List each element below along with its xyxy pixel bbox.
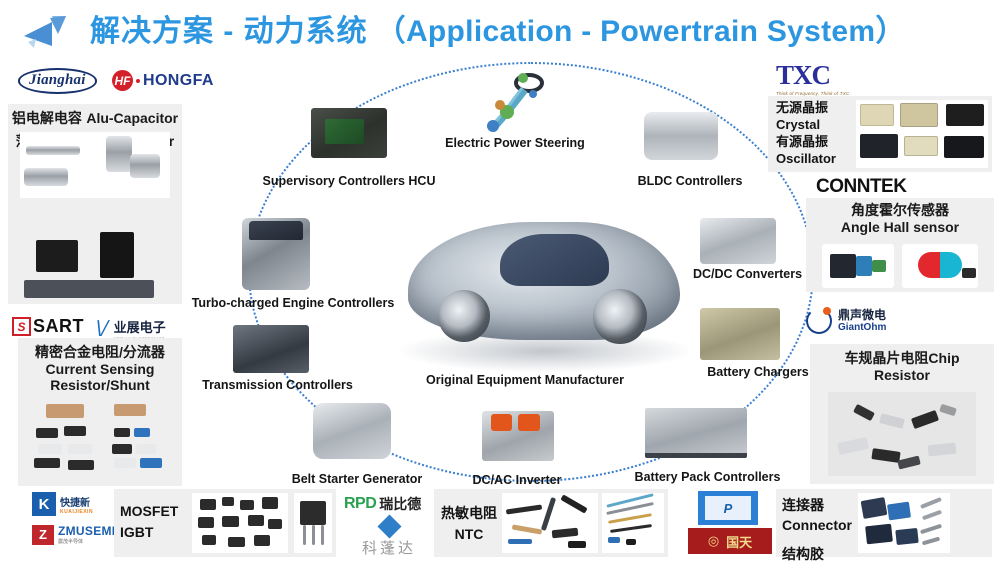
igbt-through-hole-image [294,493,332,553]
film-capacitors-image [20,228,170,298]
ntc-cn: 热敏电阻 [440,503,498,524]
ntc-sensor-wires-image [602,493,664,553]
triangle-arrow-logo-icon [22,12,76,52]
brand-kelengda-cn: 科蓬达 [362,537,416,558]
page-title-en: （Application - Powertrain System） [376,15,906,48]
shunt-cn: 精密合金电阻/分流器 [18,344,182,361]
shunt-en2: Resistor/Shunt [18,377,182,394]
brand-guotian: ◎ 国天 [688,528,772,554]
zmusemi-badge-icon: Z [32,525,54,545]
brand-hongfa: HF HONGFA [112,70,214,91]
connector-caption: 连接器 Connector 结构胶 [782,495,852,564]
ntc-en: NTC [440,524,498,545]
panel-resistor-shunt: 精密合金电阻/分流器 Current Sensing Resistor/Shun… [18,338,182,486]
adhesive-cn: 结构胶 [782,544,852,564]
crystal-line-3: 有源晶振 [776,134,854,151]
panel-ntc: 热敏电阻 NTC [434,489,668,557]
hall-caption: 角度霍尔传感器 Angle Hall sensor [806,198,994,235]
center-label-oem: Original Equipment Manufacturer [425,373,625,387]
brand-txc: TXC Think of Frequency, Think of TXC [776,60,849,96]
connector-badge-icon: P [698,491,758,525]
brand-connector: P [698,491,758,525]
hongfa-badge-icon: HF [112,70,133,91]
ecu-module-icon [311,108,387,158]
battery-charger-icon [700,308,780,360]
brand-conntek: CONNTEK [816,176,906,198]
brand-rpd-cn: 瑞比德 [379,494,421,514]
kelengda-diamond-icon [377,514,401,538]
hall-cn: 角度霍尔传感器 [806,202,994,219]
page-title-bar: 解决方案 - 动力系统（Application - Powertrain Sys… [0,6,1000,58]
yezhan-mark-icon: ⧹⧸ [94,319,110,339]
brand-kuaijiexin-cn: 快捷新 [60,494,93,509]
connector-cn: 连接器 [782,495,852,515]
node-label-turbo: Turbo-charged Engine Controllers [183,296,403,310]
brand-kuaijiexin-en: KUAIJIEXIN [60,509,93,515]
connector-en: Connector [782,515,852,535]
brand-jianghai-label: Jianghai [18,68,97,94]
shunt-resistor-chips-image [28,400,172,478]
hongfa-dot-icon [136,79,140,83]
chip-resistor-en: Resistor [810,367,994,384]
connector-badge-inner: P [705,496,751,520]
battery-pack-icon [645,408,747,458]
slide-canvas: 解决方案 - 动力系统（Application - Powertrain Sys… [0,0,1000,562]
page-title-cn: 解决方案 - 动力系统 [90,15,368,48]
brand-guotian-cn: 国天 [726,532,752,551]
shunt-caption: 精密合金电阻/分流器 Current Sensing Resistor/Shun… [18,338,182,394]
turbo-engine-icon [242,218,310,290]
brand-zmusemi-en: ZMUSEMI [58,524,115,538]
node-label-inverter: DC/AC Inverter [452,473,582,487]
sart-badge-icon: S [12,317,31,336]
hall-sensor-motor-and-magnet-image [818,242,982,290]
brand-sart-label: SART [33,316,84,337]
node-label-bldc: BLDC Controllers [615,174,765,188]
brand-zmusemi: Z ZMUSEMI 震茂半导体 [32,524,115,545]
bldc-motor-icon [644,112,718,160]
panel-hall-sensor: 角度霍尔传感器 Angle Hall sensor [806,198,994,292]
panel-capacitor: 铝电解电容 Alu-Capacitor 薄膜电容 Film-Capacitor [8,104,182,304]
ntc-caption: 热敏电阻 NTC [440,503,498,545]
guotian-badge-icon: ◎ 国天 [688,528,772,554]
panel-crystal: 无源晶振 Crystal 有源晶振 Oscillator [768,96,992,172]
mosfet-packages-image [192,493,288,553]
panel-chip-resistor: 车规晶片电阻Chip Resistor [810,344,994,484]
brand-yezhan-label: 业展电子 [114,317,166,336]
node-label-charger: Battery Chargers [698,365,818,379]
aluminum-electrolytic-capacitors-image [20,132,170,198]
capacitor-alu-en: Alu-Capacitor [86,110,178,126]
node-label-dcdc: DC/DC Converters [680,267,815,281]
crystal-caption: 无源晶振 Crystal 有源晶振 Oscillator [776,100,854,168]
node-label-battery-pack: Battery Pack Controllers [620,470,795,484]
crystal-line-4: Oscillator [776,151,854,168]
brand-jianghai: Jianghai [18,68,97,94]
guotian-mark: ◎ [708,533,719,549]
transmission-controller-icon [233,325,309,373]
car-wheel-front [438,290,490,342]
kuaijiexin-badge-icon: K [32,492,56,516]
page-title: 解决方案 - 动力系统（Application - Powertrain Sys… [90,17,906,47]
brand-kelengda: 科蓬达 [362,518,416,558]
crystal-oscillator-packages-image [856,100,988,168]
brand-giantohm-cn: 鼎声微电 [838,309,886,322]
giantohm-dot-icon [823,307,831,315]
giantohm-mark-icon [806,308,832,334]
shunt-en1: Current Sensing [18,361,182,378]
connector-housings-image [858,493,950,553]
crystal-line-2: Crystal [776,117,854,134]
brand-kuaijiexin: K 快捷新 KUAIJIEXIN [32,492,93,516]
hall-en: Angle Hall sensor [806,219,994,236]
brand-conntek-label: CONNTEK [816,176,906,198]
igbt-label: IGBT [120,522,178,543]
brand-hongfa-label: HONGFA [143,72,214,90]
node-label-bsg: Belt Starter Generator [282,472,432,486]
brand-rpd: RPD 瑞比德 [344,494,421,514]
brand-zmusemi-cn: 震茂半导体 [58,538,115,545]
smd-chip-resistors-image [828,392,976,476]
brand-giantohm-en: GiantOhm [838,322,886,333]
node-label-hcu: Supervisory Controllers HCU [254,174,444,188]
brand-sart: S SART [12,316,84,337]
belt-starter-generator-icon [313,403,391,459]
brand-rpd-label: RPD [344,495,376,513]
panel-connector: 连接器 Connector 结构胶 [776,489,992,557]
node-label-transmission: Transmission Controllers [195,378,360,392]
cutaway-car-image [408,222,680,340]
mosfet-caption: MOSFET IGBT [120,501,178,543]
ntc-thermistor-probes-image [502,493,598,553]
chip-resistor-cn: 车规晶片电阻Chip [810,350,994,367]
car-cabin [500,234,609,286]
dcdc-converter-icon [700,218,776,264]
chip-resistor-caption: 车规晶片电阻Chip Resistor [810,344,994,383]
crystal-line-1: 无源晶振 [776,100,854,117]
panel-mosfet-igbt: MOSFET IGBT [114,489,336,557]
capacitor-alu-cn: 铝电解电容 [12,110,82,126]
brand-txc-label: TXC [776,60,830,91]
steering-column-icon [476,72,552,144]
inverter-icon [482,411,554,461]
mosfet-label: MOSFET [120,501,178,522]
brand-giantohm: 鼎声微电 GiantOhm [806,308,886,334]
node-label-eps: Electric Power Steering [430,136,600,150]
capacitor-alu-caption: 铝电解电容 Alu-Capacitor [8,104,182,129]
car-wheel-rear [593,289,647,343]
